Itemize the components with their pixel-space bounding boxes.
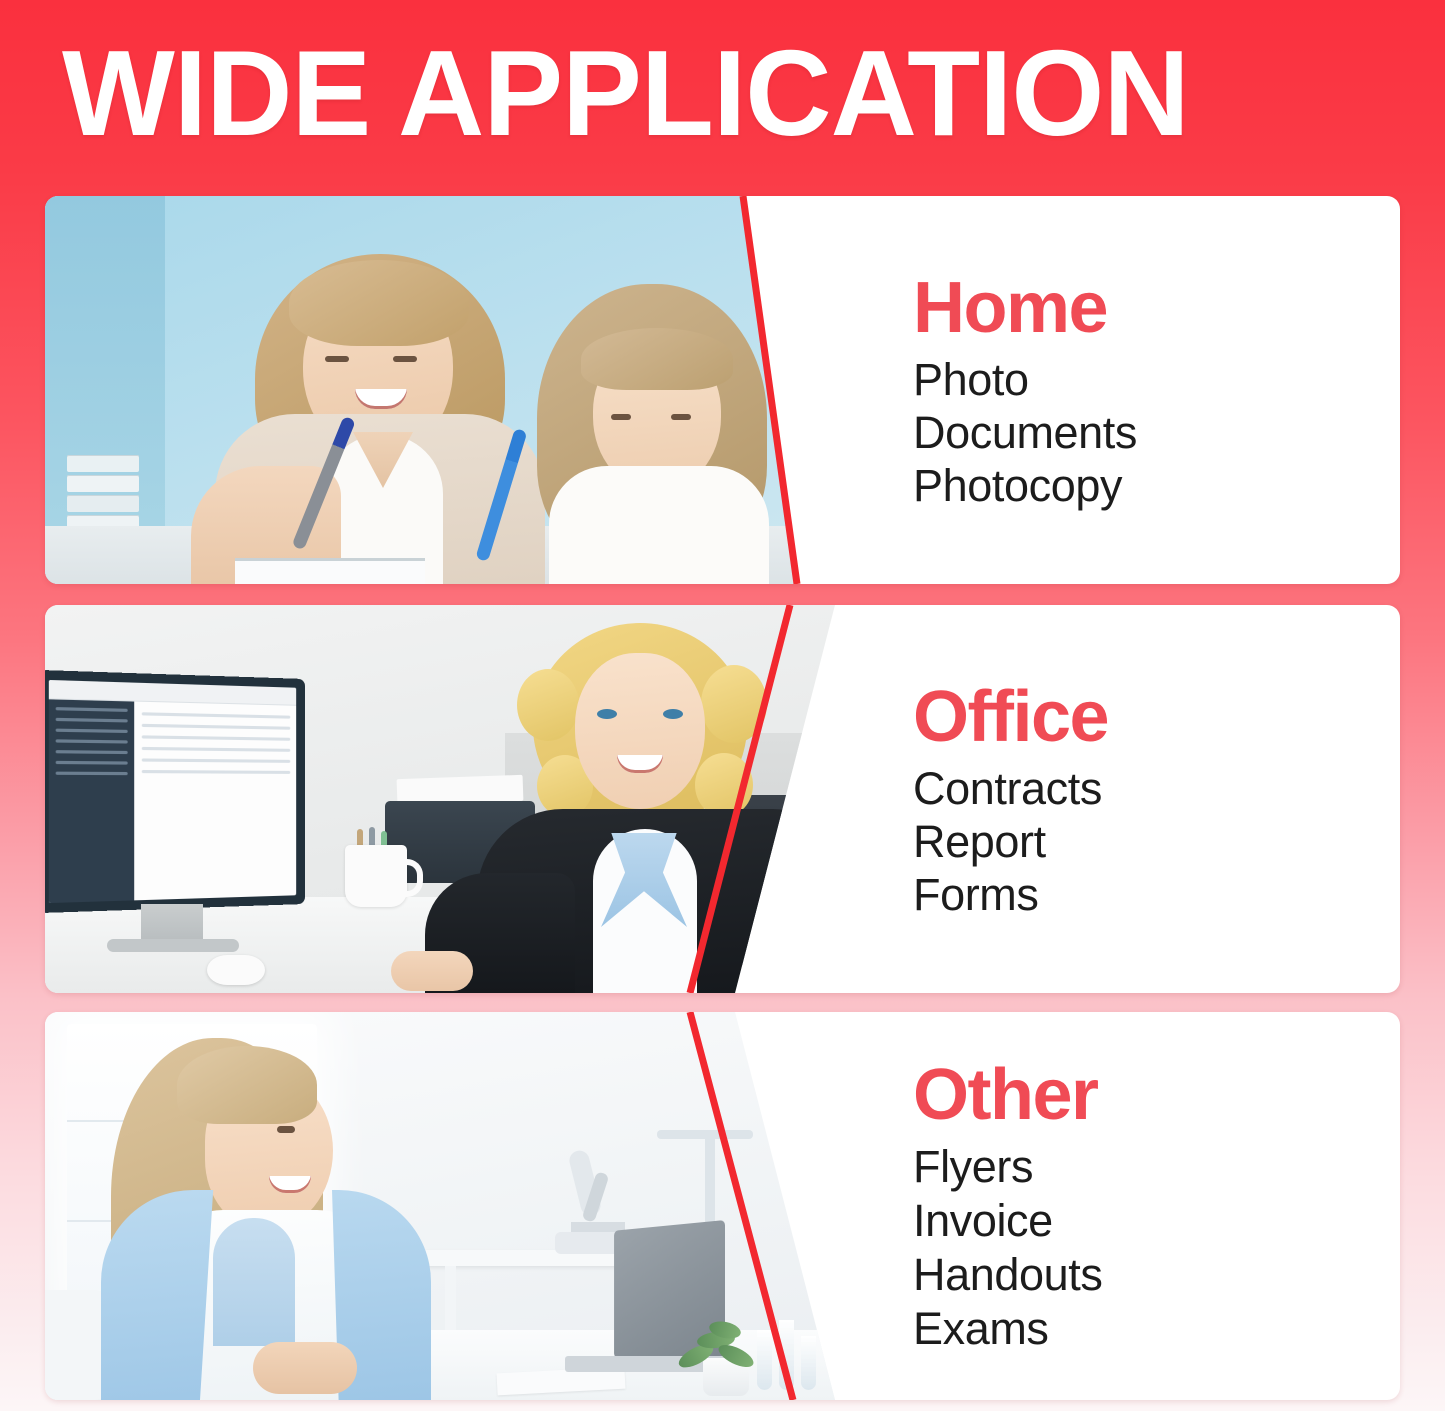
card-photo-other (45, 1012, 835, 1400)
lab-chair (45, 1290, 109, 1400)
card-photo-office (45, 605, 835, 993)
card-item-list: Flyers Invoice Handouts Exams (913, 1140, 1400, 1356)
mug-icon (345, 845, 407, 907)
list-item: Handouts (913, 1248, 1400, 1302)
card-heading: Office (913, 678, 1400, 756)
card-photo-home (45, 196, 797, 584)
scene-laboratory (45, 1012, 835, 1400)
feature-card-other: Other Flyers Invoice Handouts Exams (45, 1012, 1400, 1400)
card-heading: Home (913, 269, 1400, 347)
card-text-panel-home: Home Photo Documents Photocopy (855, 196, 1400, 584)
book-stack-icon (67, 440, 139, 532)
mouse-icon (207, 955, 265, 985)
potted-plant-icon (681, 1300, 769, 1396)
notepad (235, 558, 425, 584)
businesswoman-figure (425, 605, 835, 993)
list-item: Documents (913, 406, 1400, 459)
list-item: Flyers (913, 1140, 1400, 1194)
bench-leg (445, 1266, 456, 1340)
list-item: Contracts (913, 762, 1400, 815)
scene-office-desk (45, 605, 835, 993)
list-item: Photo (913, 353, 1400, 406)
card-text-panel-office: Office Contracts Report Forms (855, 605, 1400, 993)
list-item: Photocopy (913, 459, 1400, 512)
feature-card-home: Home Photo Documents Photocopy (45, 196, 1400, 584)
list-item: Invoice (913, 1194, 1400, 1248)
card-heading: Other (913, 1056, 1400, 1134)
list-item: Report (913, 815, 1400, 868)
test-tubes-icon (757, 1318, 831, 1390)
monitor-screen (49, 680, 296, 903)
lab-technician-figure (101, 1028, 431, 1400)
monitor-stand (141, 904, 203, 942)
list-item: Exams (913, 1302, 1400, 1356)
feature-card-office: Office Contracts Report Forms (45, 605, 1400, 993)
list-item: Forms (913, 868, 1400, 921)
page-title: WIDE APPLICATION (62, 38, 1356, 148)
scene-home-tutoring (45, 196, 797, 584)
wide-application-poster: WIDE APPLICATION (0, 0, 1445, 1411)
card-item-list: Photo Documents Photocopy (913, 353, 1400, 512)
child-figure (515, 284, 797, 584)
card-item-list: Contracts Report Forms (913, 762, 1400, 921)
monitor-icon (45, 670, 305, 913)
monitor-base (107, 939, 239, 952)
card-text-panel-other: Other Flyers Invoice Handouts Exams (855, 1012, 1400, 1400)
